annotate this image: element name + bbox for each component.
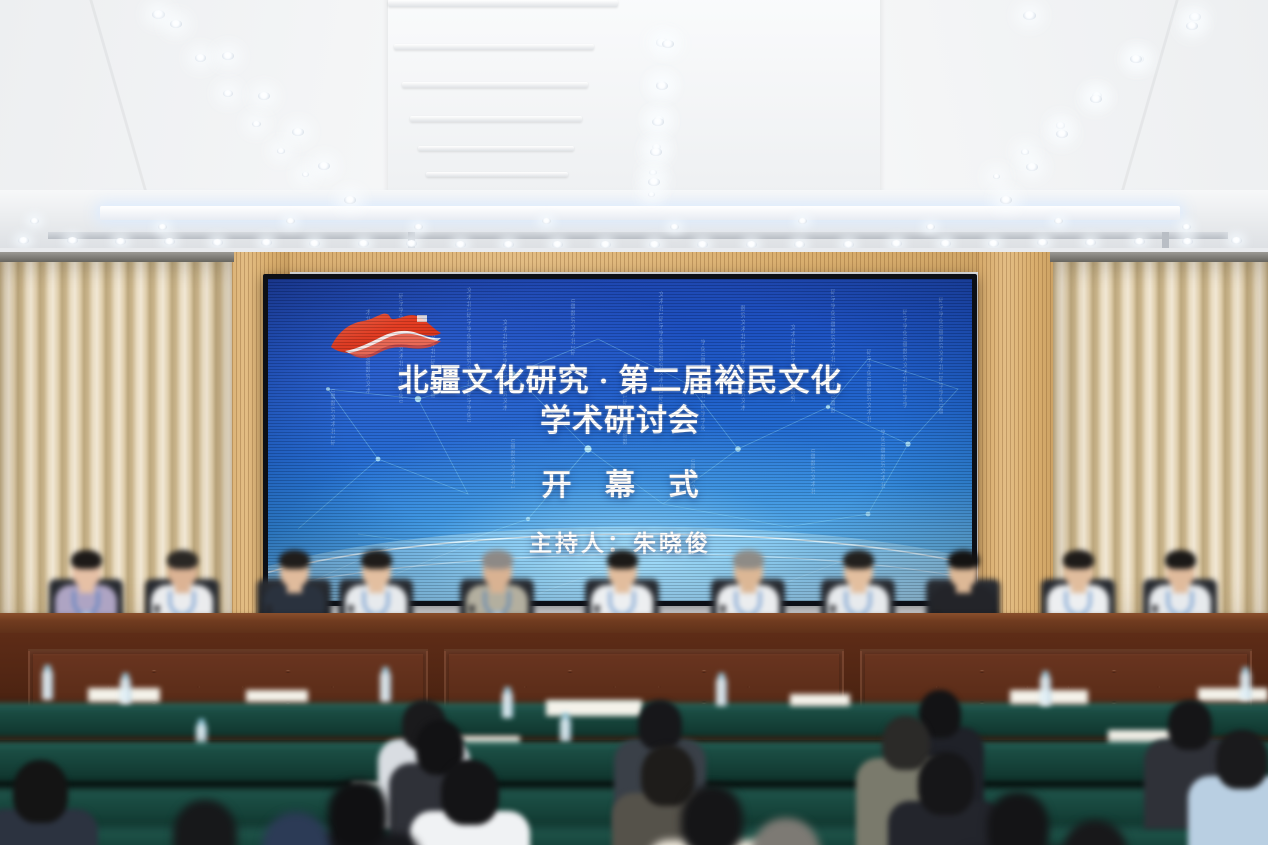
desk-paper xyxy=(246,690,308,702)
water-bottle xyxy=(716,678,727,706)
water-bottle xyxy=(380,672,391,702)
desk-paper xyxy=(790,694,850,706)
conference-hall-scene: 术北1研字学化0疆数究文术研字学化0疆数究文术北1研字学化0文术北1研字学化0疆… xyxy=(0,0,1268,845)
audience-area xyxy=(0,0,1268,845)
audience-member xyxy=(0,760,98,845)
water-bottle xyxy=(1240,672,1251,700)
audience-head xyxy=(262,812,330,845)
audience-member xyxy=(1188,730,1268,845)
water-bottle xyxy=(42,670,53,700)
water-bottle xyxy=(560,718,571,744)
audience-member xyxy=(225,812,368,845)
audience-member xyxy=(1026,820,1164,845)
audience-head xyxy=(1062,820,1128,845)
audience-head xyxy=(13,760,68,823)
audience-member xyxy=(713,818,858,845)
water-bottle xyxy=(120,678,131,704)
audience-head xyxy=(638,700,682,750)
water-bottle xyxy=(502,692,513,718)
audience-head xyxy=(751,818,821,845)
audience-member xyxy=(410,760,530,845)
water-bottle xyxy=(1040,676,1051,706)
audience-head xyxy=(441,760,498,825)
audience-head xyxy=(1216,730,1268,789)
